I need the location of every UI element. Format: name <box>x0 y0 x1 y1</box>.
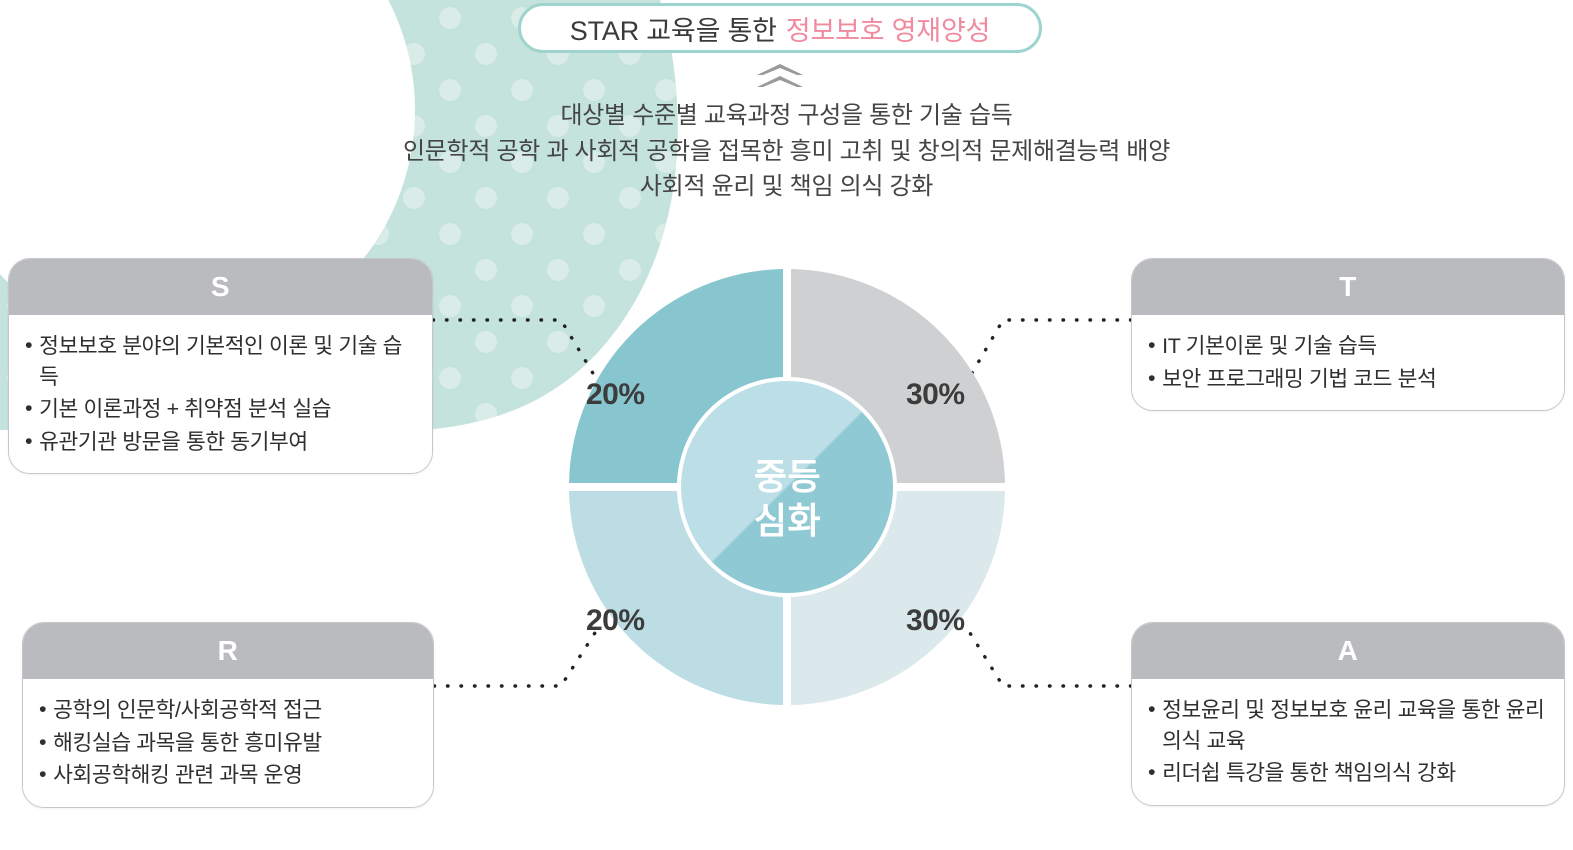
card-a-header: A <box>1132 623 1564 679</box>
card-r-bullet-3: 사회공학해킹 관련 과목 운영 <box>53 760 417 791</box>
bullet-icon: • <box>39 760 46 789</box>
bullet-icon: • <box>25 331 32 360</box>
card-t: T • IT 기본이론 및 기술 습득 • 보안 프로그래밍 기법 코드 분석 <box>1131 258 1565 411</box>
bullet-icon: • <box>1148 695 1155 724</box>
subtitle-block: 대상별 수준별 교육과정 구성을 통한 기술 습득 인문학적 공학 과 사회적 … <box>0 98 1573 205</box>
percent-label-t: 30% <box>906 378 965 412</box>
page-title-prefix: STAR 교육을 통한 <box>570 9 777 48</box>
bullet-icon: • <box>25 394 32 423</box>
bullet-icon: • <box>39 728 46 757</box>
list-item: • 유관기관 방문을 통한 동기부여 <box>25 427 416 458</box>
card-r: R • 공학의 인문학/사회공학적 접근 • 해킹실습 과목을 통한 흥미유발 … <box>22 622 434 808</box>
card-t-bullet-2: 보안 프로그래밍 기법 코드 분석 <box>1162 364 1548 395</box>
list-item: • 기본 이론과정 + 취약점 분석 실습 <box>25 394 416 425</box>
page-title-pill: STAR 교육을 통한 정보보호 영재양성 <box>518 3 1042 53</box>
chevron-double-up-icon <box>757 64 803 90</box>
card-s: S • 정보보호 분야의 기본적인 이론 및 기술 습득 • 기본 이론과정 +… <box>8 258 433 474</box>
list-item: • 정보보호 분야의 기본적인 이론 및 기술 습득 <box>25 331 416 392</box>
percent-label-a: 30% <box>906 604 965 638</box>
diagram-canvas: STAR 교육을 통한 정보보호 영재양성 대상별 수준별 교육과정 구성을 통… <box>0 0 1573 850</box>
percent-label-s: 20% <box>586 378 645 412</box>
list-item: • 리더쉽 특강을 통한 책임의식 강화 <box>1148 758 1548 789</box>
subtitle-line-1: 대상별 수준별 교육과정 구성을 통한 기술 습득 <box>0 98 1573 134</box>
card-s-header: S <box>9 259 432 315</box>
card-a-bullet-1: 정보윤리 및 정보보호 윤리 교육을 통한 윤리의식 교육 <box>1162 695 1548 756</box>
card-r-bullet-2: 해킹실습 과목을 통한 흥미유발 <box>53 728 417 759</box>
bullet-icon: • <box>39 695 46 724</box>
bullet-icon: • <box>1148 331 1155 360</box>
list-item: • 정보윤리 및 정보보호 윤리 교육을 통한 윤리의식 교육 <box>1148 695 1548 756</box>
subtitle-line-2: 인문학적 공학 과 사회적 공학을 접목한 흥미 고취 및 창의적 문제해결능력… <box>0 134 1573 170</box>
card-s-body: • 정보보호 분야의 기본적인 이론 및 기술 습득 • 기본 이론과정 + 취… <box>9 315 432 473</box>
card-s-bullet-1: 정보보호 분야의 기본적인 이론 및 기술 습득 <box>39 331 416 392</box>
card-t-body: • IT 기본이론 및 기술 습득 • 보안 프로그래밍 기법 코드 분석 <box>1132 315 1564 410</box>
card-t-bullet-1: IT 기본이론 및 기술 습득 <box>1162 331 1548 362</box>
card-s-bullet-3: 유관기관 방문을 통한 동기부여 <box>39 427 416 458</box>
bullet-icon: • <box>25 427 32 456</box>
card-r-header: R <box>23 623 433 679</box>
list-item: • IT 기본이론 및 기술 습득 <box>1148 331 1548 362</box>
donut-center-circle <box>681 381 893 593</box>
card-r-body: • 공학의 인문학/사회공학적 접근 • 해킹실습 과목을 통한 흥미유발 • … <box>23 679 433 807</box>
card-t-header: T <box>1132 259 1564 315</box>
list-item: • 보안 프로그래밍 기법 코드 분석 <box>1148 364 1548 395</box>
card-a-bullet-2: 리더쉽 특강을 통한 책임의식 강화 <box>1162 758 1548 789</box>
list-item: • 사회공학해킹 관련 과목 운영 <box>39 760 417 791</box>
bullet-icon: • <box>1148 364 1155 393</box>
list-item: • 공학의 인문학/사회공학적 접근 <box>39 695 417 726</box>
percent-label-r: 20% <box>586 604 645 638</box>
bullet-icon: • <box>1148 758 1155 787</box>
card-a-body: • 정보윤리 및 정보보호 윤리 교육을 통한 윤리의식 교육 • 리더쉽 특강… <box>1132 679 1564 805</box>
card-a: A • 정보윤리 및 정보보호 윤리 교육을 통한 윤리의식 교육 • 리더쉽 … <box>1131 622 1565 806</box>
page-title-highlight: 정보보호 영재양성 <box>786 9 990 48</box>
list-item: • 해킹실습 과목을 통한 흥미유발 <box>39 728 417 759</box>
card-s-bullet-2: 기본 이론과정 + 취약점 분석 실습 <box>39 394 416 425</box>
subtitle-line-3: 사회적 윤리 및 책임 의식 강화 <box>0 169 1573 205</box>
card-r-bullet-1: 공학의 인문학/사회공학적 접근 <box>53 695 417 726</box>
donut-chart <box>563 263 1011 711</box>
